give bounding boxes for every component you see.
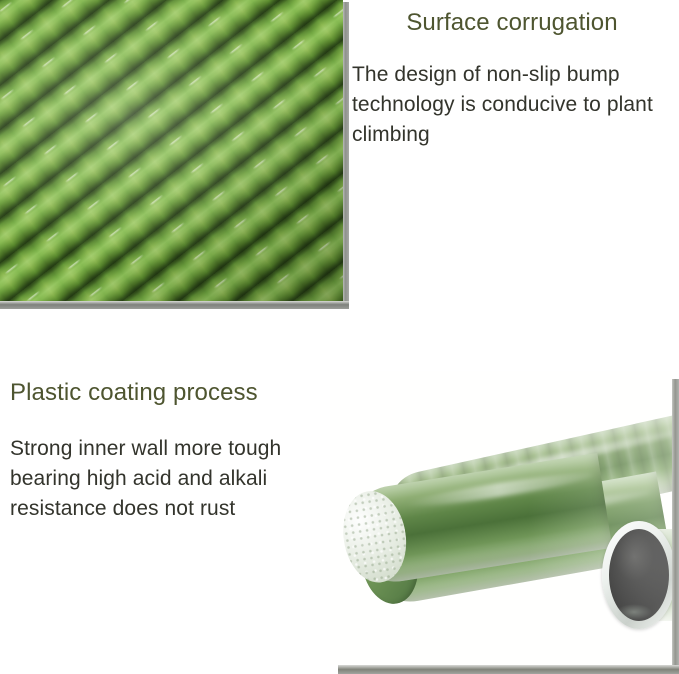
coating-description: Strong inner wall more tough bearing hig… (10, 434, 346, 524)
photo-right-border (343, 2, 349, 309)
photo-image-area (0, 0, 343, 301)
photo-bottom-border (0, 301, 349, 309)
photo-lighting-vignette (0, 0, 343, 301)
corrugation-text-block: Surface corrugation The design of non-sl… (352, 8, 672, 150)
corrugation-description: The design of non-slip bump technology i… (352, 60, 672, 150)
photo-bottom-border (338, 665, 679, 674)
stake-cross-section-photo (330, 371, 679, 674)
photo-right-border (672, 379, 679, 674)
cut-face-grain-texture (337, 486, 413, 587)
stake-tube-hollow (602, 521, 672, 629)
photo-image-area (330, 371, 672, 665)
corrugation-heading: Surface corrugation (352, 8, 672, 38)
corrugated-green-stakes-photo (0, 0, 349, 309)
stake-rough-cut-face (337, 486, 413, 587)
coating-text-block: Plastic coating process Strong inner wal… (10, 378, 346, 524)
inner-bore-reflection (616, 604, 652, 620)
coating-heading: Plastic coating process (10, 378, 346, 408)
